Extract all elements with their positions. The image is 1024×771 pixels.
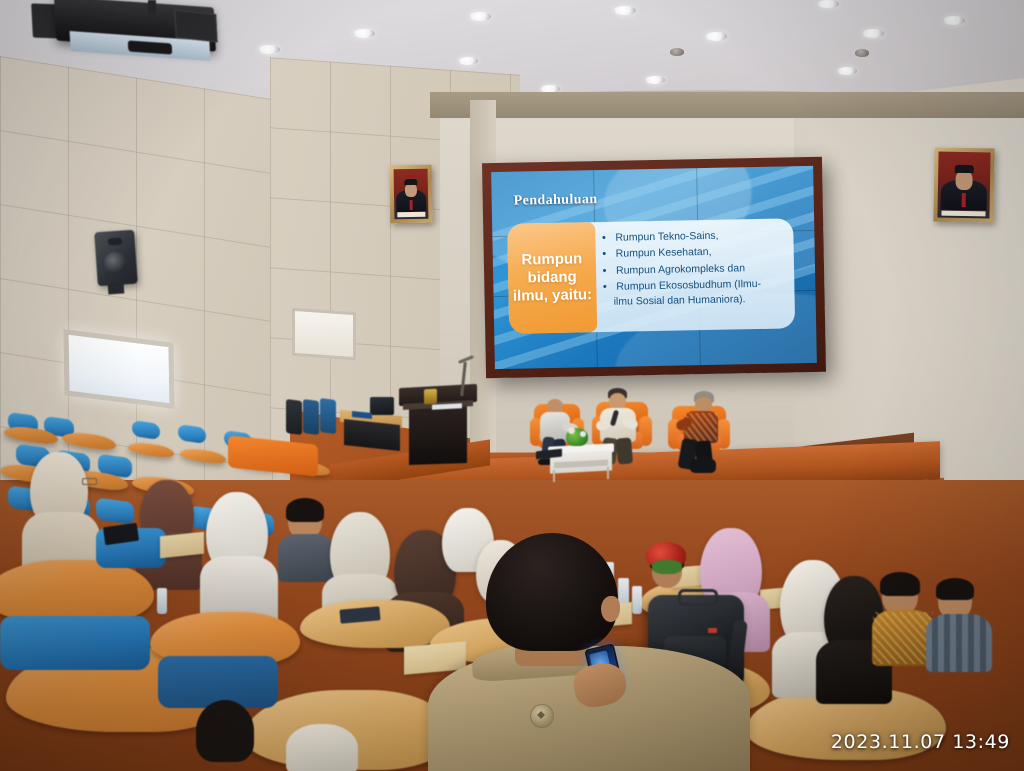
projector-ceiling-rod	[148, 0, 156, 14]
batik-pattern	[873, 612, 933, 664]
attendee-hijab	[286, 724, 358, 771]
batik-pattern	[685, 413, 717, 441]
speaker-bracket	[108, 282, 125, 294]
flower-bloom	[568, 427, 575, 434]
attendee-hair	[936, 578, 974, 600]
table-leg	[553, 470, 555, 482]
tablet-arm-desk[interactable]	[0, 560, 154, 624]
ceiling-downlight	[837, 67, 857, 75]
slide-title: Pendahuluan	[514, 192, 598, 210]
ceiling-downlight	[458, 57, 478, 65]
ceiling-downlight	[613, 6, 636, 15]
ceiling-downlight	[645, 76, 665, 84]
ceiling-downlight	[353, 29, 375, 38]
presentation-slide[interactable]: Pendahuluan Rumpun bidang ilmu, yaitu: R…	[491, 166, 817, 369]
official-portrait-right	[933, 147, 994, 222]
speaker-tweeter-icon	[108, 238, 122, 246]
video-wall-frame: Pendahuluan Rumpun bidang ilmu, yaitu: R…	[482, 157, 826, 378]
attendee-hair	[286, 498, 324, 522]
attendee-body	[926, 614, 992, 672]
wall-soffit-band	[430, 92, 1024, 118]
slide-bullet-item: Rumpun Kesehatan,	[616, 244, 788, 262]
photo-timestamp: 2023.11.07 13:49	[831, 731, 1010, 753]
slide-callout-box: Rumpun bidang ilmu, yaitu:	[507, 222, 597, 334]
ceiling-downlight	[705, 32, 727, 41]
table-leg	[607, 467, 609, 479]
slide-bullet-item: Rumpun Agrokompleks dan	[616, 260, 788, 278]
attendee-body	[278, 534, 334, 582]
flower-bloom	[580, 431, 586, 437]
portrait-image	[394, 169, 429, 220]
slide-content-panel: Rumpun bidang ilmu, yaitu: Rumpun Tekno-…	[507, 218, 795, 333]
wall-light-panel	[292, 308, 356, 360]
ceiling-downlight	[469, 12, 491, 21]
seminar-hall-photograph: Pendahuluan Rumpun bidang ilmu, yaitu: R…	[0, 0, 1024, 771]
slide-bullet-list: Rumpun Tekno-Sains, Rumpun Kesehatan, Ru…	[595, 218, 795, 332]
official-portrait-left	[389, 165, 432, 224]
ceiling-downlight	[943, 16, 965, 25]
ceiling-downlight	[862, 29, 884, 38]
ceiling-dome-speaker	[670, 48, 684, 56]
eyeglasses-icon	[82, 478, 97, 485]
ceiling-downlight	[817, 0, 839, 8]
attendee-head	[196, 700, 254, 762]
ear	[601, 596, 620, 622]
snack-box[interactable]	[160, 532, 204, 559]
bag-on-floor	[690, 459, 716, 473]
slide-bullet-continuation: ilmu Sosial dan Humaniora).	[614, 292, 789, 310]
slide-bullet-item: Rumpun Ekososbudhum (Ilmu- ilmu Sosial d…	[616, 277, 789, 310]
ceiling-dome-speaker	[855, 49, 869, 57]
water-bottle[interactable]	[157, 588, 167, 614]
projector-side-plate	[174, 10, 217, 43]
wall-light-panel	[63, 329, 174, 409]
ceiling-downlight	[258, 45, 280, 54]
university-crest-icon	[424, 389, 437, 405]
portrait-image	[937, 152, 990, 219]
slide-bullet-text: Rumpun Ekososbudhum (Ilmu-	[616, 278, 761, 293]
slide-bullet-item: Rumpun Tekno-Sains,	[615, 227, 787, 245]
lecture-chair[interactable]	[0, 616, 150, 670]
panelist-right	[676, 391, 730, 469]
attendee-hair	[880, 572, 920, 596]
